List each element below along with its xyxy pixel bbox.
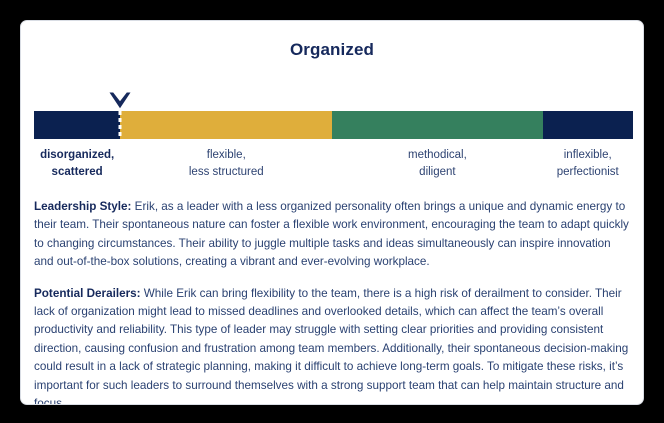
- scale-label-line1: inflexible,: [543, 147, 633, 164]
- dashed-vertical-line: [119, 111, 122, 139]
- scale-label-flexible: flexible,less structured: [120, 147, 332, 181]
- narrative-paragraph: Potential Derailers: While Erik can brin…: [34, 285, 632, 405]
- page-title: Organized: [21, 40, 643, 60]
- narrative-lead: Leadership Style:: [34, 200, 131, 213]
- scale-label-inflexible: inflexible,perfectionist: [543, 147, 633, 181]
- scale-label-line1: disorganized,: [34, 147, 120, 164]
- scale-labels: disorganized,scatteredflexible,less stru…: [34, 147, 633, 181]
- scale-label-disorganized: disorganized,scattered: [34, 147, 120, 181]
- narrative-lead: Potential Derailers:: [34, 287, 141, 300]
- scale-label-line2: less structured: [120, 164, 332, 181]
- scale-bar: [34, 111, 633, 139]
- scale-label-line1: methodical,: [332, 147, 542, 164]
- scale-label-line2: scattered: [34, 164, 120, 181]
- personality-trait-card: Organized disorganized,scatteredflexible…: [20, 20, 644, 405]
- scale-segment-methodical: [332, 111, 542, 139]
- narrative-text: While Erik can bring flexibility to the …: [34, 287, 628, 405]
- scale-label-line2: diligent: [332, 164, 542, 181]
- narrative-paragraph: Leadership Style: Erik, as a leader with…: [34, 198, 632, 272]
- scale-segment-flexible: [120, 111, 332, 139]
- scale-label-line2: perfectionist: [543, 164, 633, 181]
- chevron-down-icon: [109, 92, 131, 109]
- scale-segment-disorganized: [34, 111, 120, 139]
- narrative-body: Leadership Style: Erik, as a leader with…: [34, 198, 632, 405]
- scale-label-line1: flexible,: [120, 147, 332, 164]
- trait-scale: disorganized,scatteredflexible,less stru…: [34, 71, 633, 186]
- scale-segment-inflexible: [543, 111, 633, 139]
- scale-label-methodical: methodical,diligent: [332, 147, 542, 181]
